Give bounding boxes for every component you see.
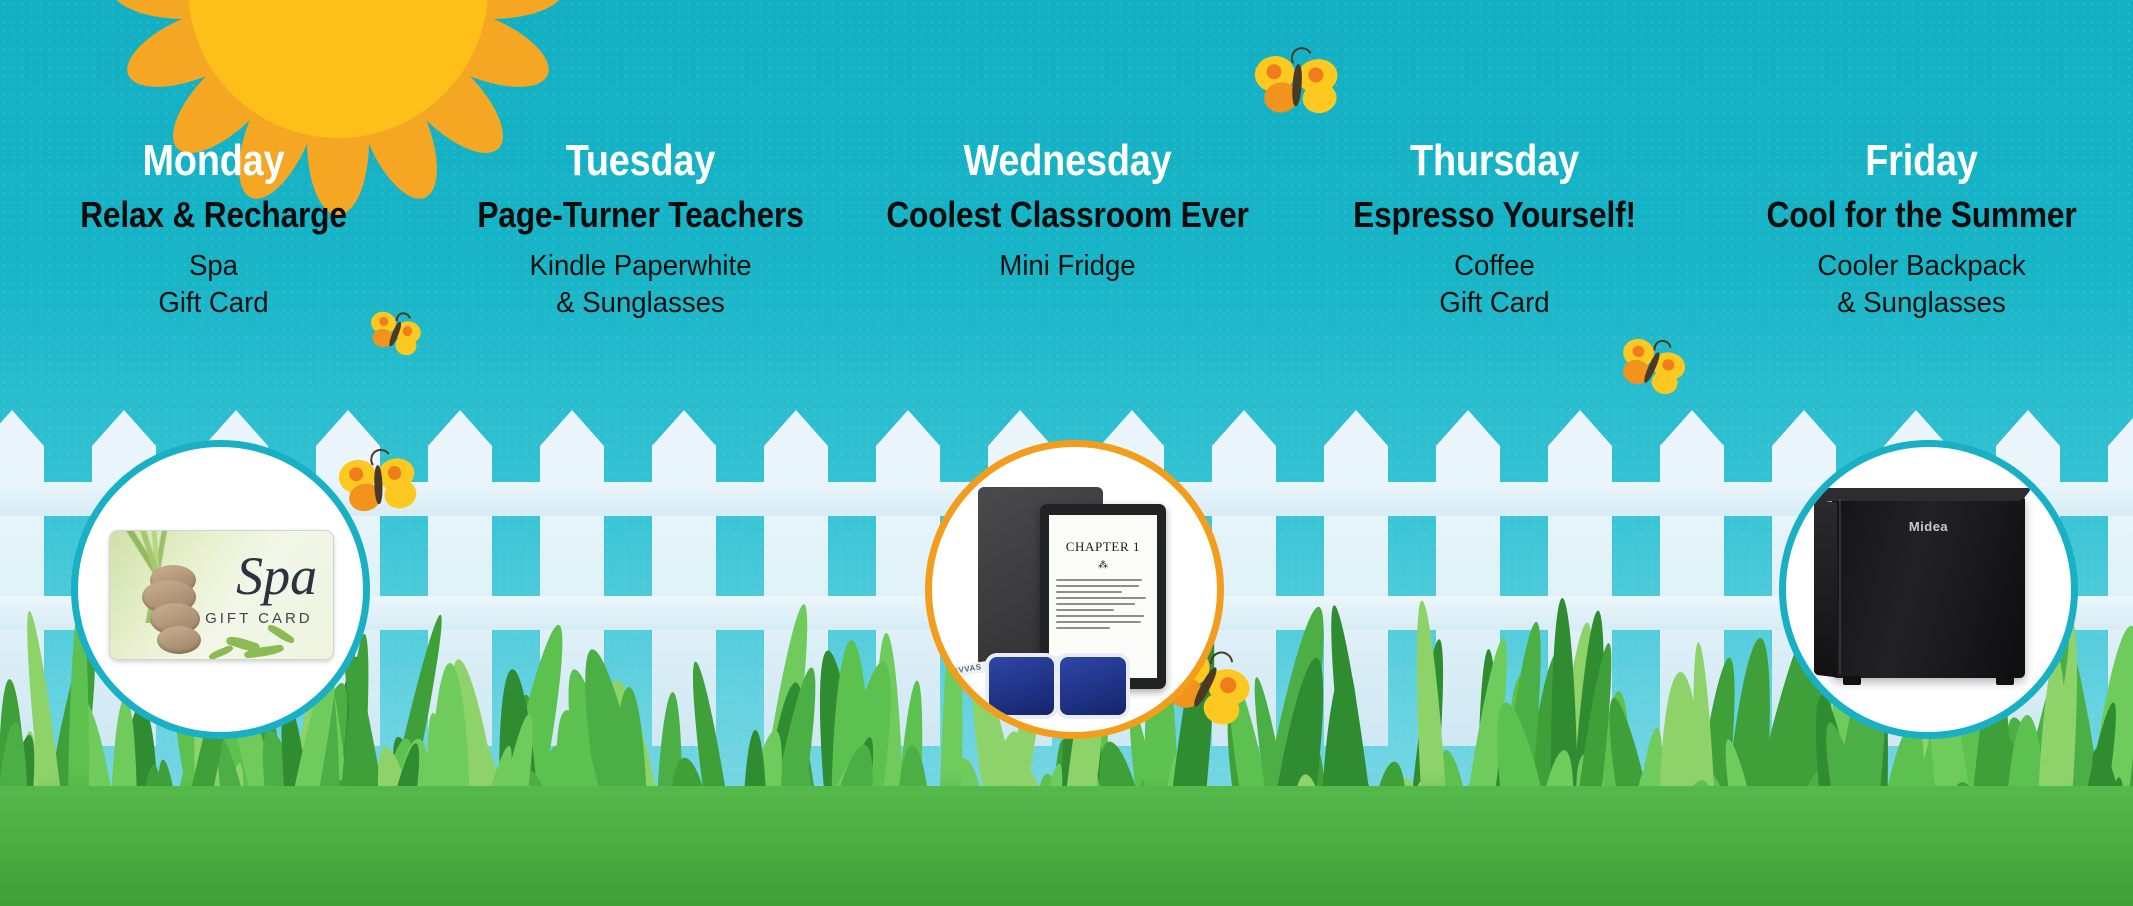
column-header: TuesdayPage-Turner TeachersKindle Paperw… <box>427 138 854 323</box>
item-description: Mini Fridge <box>865 248 1271 286</box>
spa-gift-card: SpaGIFT CARD <box>109 530 333 660</box>
tagline: Coolest Classroom Ever <box>880 194 1256 236</box>
spa-leaf <box>208 645 235 660</box>
promo-banner: MondayRelax & RechargeSpaGift CardSpaGIF… <box>0 0 2133 906</box>
item-description: SpaGift Card <box>11 248 417 323</box>
tagline: Page-Turner Teachers <box>453 194 829 236</box>
day-columns: MondayRelax & RechargeSpaGift CardSpaGIF… <box>0 0 2133 906</box>
column-item-line: Coffee <box>1292 248 1698 286</box>
column-item-line: Gift Card <box>1292 285 1698 323</box>
day-label: Thursday <box>1311 138 1678 184</box>
spa-stone <box>157 626 201 654</box>
column-item-line: & Sunglasses <box>1719 285 2125 323</box>
column-item-line: Gift Card <box>11 285 417 323</box>
column-item-line: & Sunglasses <box>438 285 844 323</box>
item-description: Kindle Paperwhite& Sunglasses <box>438 248 844 323</box>
tagline: Relax & Recharge <box>26 194 402 236</box>
day-column-friday: FridayCool for the SummerCooler Backpack… <box>1708 0 2133 906</box>
day-column-thursday: ThursdayEspresso Yourself!CoffeeGift Car… <box>1281 0 1708 906</box>
day-label: Tuesday <box>457 138 824 184</box>
day-label: Monday <box>30 138 397 184</box>
column-header: FridayCool for the SummerCooler Backpack… <box>1708 138 2133 323</box>
item-description: Cooler Backpack& Sunglasses <box>1719 248 2125 323</box>
column-item-line: Mini Fridge <box>865 248 1271 286</box>
day-column-monday: MondayRelax & RechargeSpaGift CardSpaGIF… <box>0 0 427 906</box>
day-label: Wednesday <box>884 138 1251 184</box>
tagline: Cool for the Summer <box>1734 194 2110 236</box>
product-image: SpaGIFT CARD <box>78 447 363 732</box>
column-item-line: Cooler Backpack <box>1719 248 2125 286</box>
item-description: CoffeeGift Card <box>1292 248 1698 323</box>
day-label: Friday <box>1738 138 2105 184</box>
column-header: WednesdayCoolest Classroom EverMini Frid… <box>854 138 1281 285</box>
column-item-line: Kindle Paperwhite <box>438 248 844 286</box>
column-header: MondayRelax & RechargeSpaGift Card <box>0 138 427 323</box>
tagline: Espresso Yourself! <box>1307 194 1683 236</box>
spa-stone-stack <box>139 574 206 654</box>
column-item-line: Spa <box>11 248 417 286</box>
day-column-wednesday: WednesdayCoolest Classroom EverMini Frid… <box>854 0 1281 906</box>
product-circle-spa-gift-card[interactable]: SpaGIFT CARD <box>71 440 370 739</box>
column-header: ThursdayEspresso Yourself!CoffeeGift Car… <box>1281 138 1708 323</box>
spa-card-word: Spa <box>236 549 317 603</box>
spa-card-subtitle: GIFT CARD <box>205 610 313 627</box>
day-column-tuesday: TuesdayPage-Turner TeachersKindle Paperw… <box>427 0 854 906</box>
